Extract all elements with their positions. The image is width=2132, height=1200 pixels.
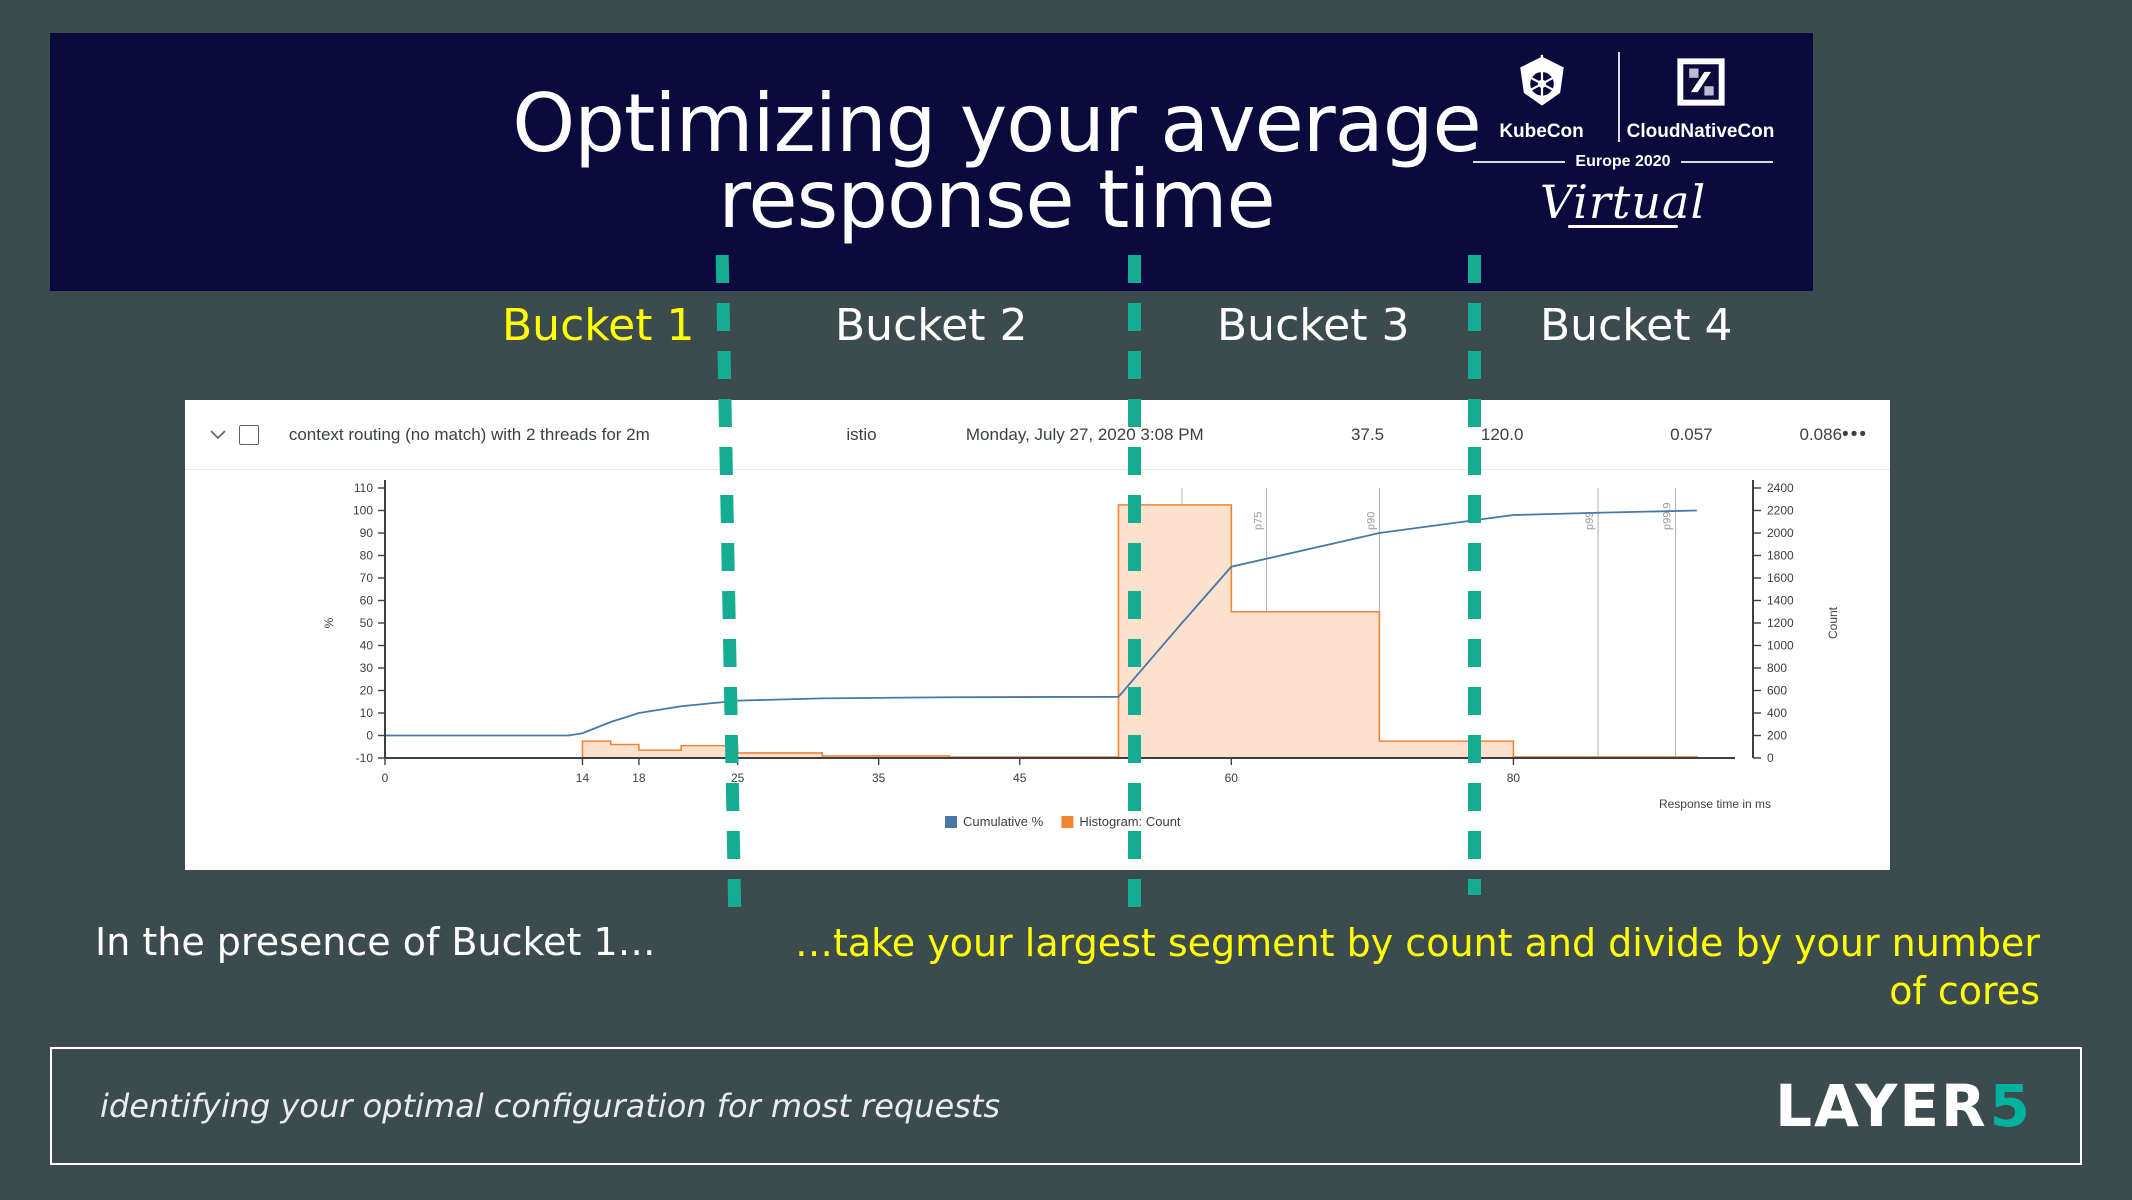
cumulative-line: [385, 511, 1697, 736]
kubernetes-helm-icon: [1513, 51, 1571, 113]
x-tick-label: 80: [1507, 771, 1521, 785]
y2-tick-label: 2000: [1767, 526, 1794, 540]
y-tick-label: 30: [360, 661, 374, 675]
metric-value-3: 0.057: [1523, 425, 1712, 445]
y-tick-label: 110: [354, 481, 373, 495]
chevron-down-icon[interactable]: [207, 430, 229, 440]
bucket-divider-3: [1468, 255, 1481, 895]
metric-value-1: 37.5: [1265, 425, 1384, 445]
kubecon-label: KubeCon: [1499, 121, 1583, 143]
x-axis-label: Response time in ms: [1659, 797, 1771, 811]
y-tick-label: 90: [360, 526, 374, 540]
y2-tick-label: 1000: [1767, 639, 1794, 653]
y2-tick-label: 1200: [1767, 616, 1794, 630]
y-tick-label: 100: [353, 504, 373, 518]
x-tick-label: 45: [1013, 771, 1027, 785]
bucket-divider-2: [1128, 255, 1141, 915]
title-band: Optimizing your average response time: [50, 33, 1813, 291]
percentile-marker-p99.9: p99.9: [1662, 502, 1674, 530]
bucket-label-row: Bucket 1 Bucket 2 Bucket 3 Bucket 4: [50, 300, 1813, 378]
y-tick-label: 50: [360, 616, 374, 630]
y2-tick-label: 1400: [1767, 594, 1794, 608]
footer-bar: identifying your optimal configuration f…: [50, 1047, 2082, 1165]
percentile-marker-p99: p99: [1584, 512, 1596, 530]
y-tick-label: 10: [360, 706, 374, 720]
y2-tick-label: 1800: [1767, 549, 1794, 563]
y2-tick-label: 400: [1767, 706, 1787, 720]
layer5-wordmark: LAYER: [1775, 1077, 1988, 1135]
y2-tick-label: 0: [1767, 751, 1774, 765]
metric-value-2: 120.0: [1384, 425, 1523, 445]
bucket-label-1: Bucket 1: [502, 300, 694, 351]
virtual-label: Virtual: [1473, 175, 1773, 229]
metric-value-4: 0.086: [1713, 425, 1842, 445]
legend-label: Cumulative %: [963, 814, 1044, 829]
y-tick-label: 70: [360, 571, 374, 585]
mesh-tag: istio: [846, 425, 965, 445]
y-tick-label: 20: [360, 684, 374, 698]
row-checkbox[interactable]: [239, 425, 259, 445]
y-tick-label: 80: [360, 549, 374, 563]
layer5-digit: 5: [1990, 1077, 2032, 1135]
y2-tick-label: 600: [1767, 684, 1787, 698]
x-tick-label: 14: [576, 771, 590, 785]
edition-rule-right: [1681, 161, 1773, 163]
conference-logo: KubeCon CloudNativeCon Europe 202: [1473, 51, 1773, 228]
y2-tick-label: 200: [1767, 729, 1787, 743]
y-tick-label: 0: [366, 729, 373, 743]
caption-left: In the presence of Bucket 1…: [95, 920, 745, 964]
x-tick-label: 18: [632, 771, 646, 785]
y-tick-label: -10: [356, 751, 374, 765]
bucket-label-4: Bucket 4: [1540, 300, 1732, 351]
layer5-logo: LAYER 5: [1775, 1077, 2032, 1135]
bucket-label-3: Bucket 3: [1217, 300, 1409, 351]
histogram-svg: p50p75p90p99p99.9-1001020304050607080901…: [185, 470, 1890, 870]
chart-card: context routing (no match) with 2 thread…: [185, 400, 1890, 870]
run-timestamp: Monday, July 27, 2020 3:08 PM: [966, 425, 1265, 445]
footer-caption: identifying your optimal configuration f…: [100, 1087, 1775, 1125]
caption-right: …take your largest segment by count and …: [790, 920, 2040, 1015]
y-tick-label: 60: [360, 594, 374, 608]
histogram-plot: p50p75p90p99p99.9-1001020304050607080901…: [185, 470, 1890, 870]
legend-swatch: [1061, 816, 1073, 828]
edition-rule-left: [1473, 161, 1565, 163]
percentile-marker-p75: p75: [1253, 512, 1265, 530]
x-tick-label: 35: [872, 771, 886, 785]
bucket-label-2: Bucket 2: [835, 300, 1027, 351]
y2-tick-label: 1600: [1767, 571, 1794, 585]
edition-label: Europe 2020: [1575, 153, 1670, 171]
legend-swatch: [945, 816, 957, 828]
y2-tick-label: 800: [1767, 661, 1787, 675]
cloudnativecon-label: CloudNativeCon: [1627, 121, 1775, 143]
result-row[interactable]: context routing (no match) with 2 thread…: [185, 400, 1890, 470]
logo-divider: [1618, 52, 1620, 142]
x-tick-label: 0: [382, 771, 389, 785]
test-name: context routing (no match) with 2 thread…: [289, 425, 847, 445]
y2-tick-label: 2400: [1767, 481, 1794, 495]
percentile-marker-p90: p90: [1365, 512, 1377, 530]
cloudnative-icon: [1674, 51, 1728, 113]
y2-axis-label: Count: [1826, 606, 1840, 639]
x-tick-label: 60: [1225, 771, 1239, 785]
y2-tick-label: 2200: [1767, 504, 1794, 518]
more-options-icon[interactable]: •••: [1842, 424, 1868, 446]
y-axis-label: %: [322, 617, 336, 628]
y-tick-label: 40: [360, 639, 374, 653]
